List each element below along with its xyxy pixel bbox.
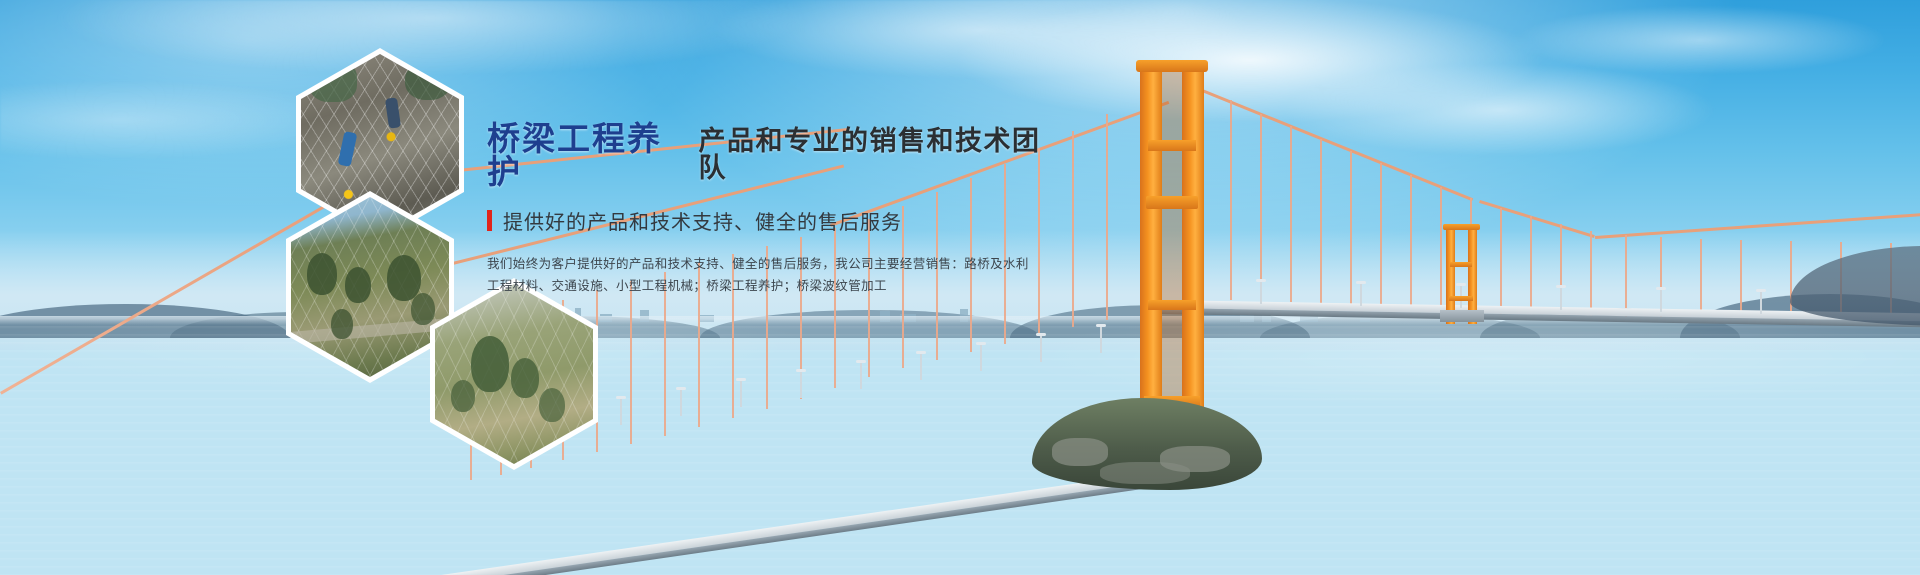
banner-headline: 桥梁工程养护 产品和专业的销售和技术团队 (487, 122, 1047, 188)
banner-paragraph: 我们始终为客户提供好的产品和技术支持、健全的售后服务，我公司主要经营销售：路桥及… (487, 253, 1047, 297)
banner-subheading-row: 提供好的产品和技术支持、健全的售后服务 (487, 206, 1047, 235)
bridge-deck-left (387, 470, 1170, 575)
banner-paragraph-line-1: 我们始终为客户提供好的产品和技术支持、健全的售后服务，我公司主要经营销售：路桥及… (487, 253, 1047, 275)
headline-primary: 桥梁工程养护 (487, 122, 685, 188)
hero-banner: 桥梁工程养护 产品和专业的销售和技术团队 提供好的产品和技术支持、健全的售后服务… (0, 0, 1920, 575)
banner-text-block: 桥梁工程养护 产品和专业的销售和技术团队 提供好的产品和技术支持、健全的售后服务… (487, 122, 1047, 297)
accent-bar-icon (487, 210, 492, 231)
banner-paragraph-line-2: 工程材料、交通设施、小型工程机械；桥梁工程养护；桥梁波纹管加工 (487, 275, 1047, 297)
bridge-tower-main (1140, 66, 1162, 441)
headline-secondary: 产品和专业的销售和技术团队 (699, 128, 1047, 182)
banner-subheading: 提供好的产品和技术支持、健全的售后服务 (503, 206, 902, 235)
